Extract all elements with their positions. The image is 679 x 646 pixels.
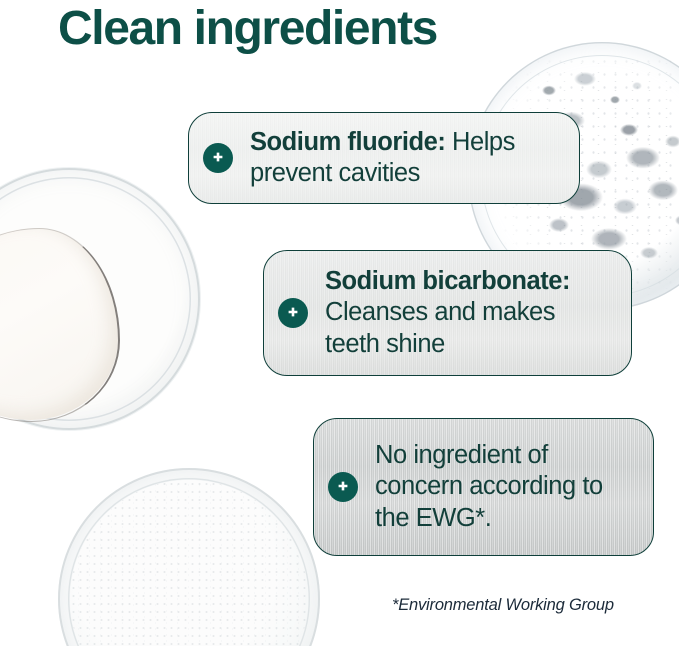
plus-icon [203, 143, 233, 173]
ingredient-card-sodium-bicarbonate: Sodium bicarbonate: Cleanses and makes t… [263, 250, 632, 376]
ingredient-card-no-concern: No ingredient of concern according to th… [313, 418, 654, 556]
ingredient-card-text: Sodium fluoride: Helps prevent cavities [250, 127, 563, 190]
plus-icon [328, 472, 358, 502]
ingredient-card-sodium-fluoride: Sodium fluoride: Helps prevent cavities [188, 112, 580, 204]
plus-icon [278, 298, 308, 328]
ingredient-description: No ingredient of concern according to th… [375, 441, 603, 532]
clear-gel-blob [0, 228, 118, 420]
ingredient-name: Sodium fluoride: [250, 128, 445, 156]
ingredient-card-text: Sodium bicarbonate: Cleanses and makes t… [325, 266, 615, 360]
footnote: *Environmental Working Group [392, 596, 614, 615]
clear-gel-edge [0, 228, 120, 422]
ingredient-card-text: No ingredient of concern according to th… [375, 440, 637, 534]
fine-white-powder-fill [70, 480, 308, 646]
page-title: Clean ingredients [58, 2, 437, 56]
petri-dish-left [0, 168, 200, 430]
ingredient-name: Sodium bicarbonate: [325, 267, 570, 295]
petri-dish-bottom [58, 468, 320, 646]
clean-ingredients-infographic: Clean ingredients Sodium fluoride: Helps… [0, 0, 679, 646]
ingredient-description: Cleanses and makes teeth shine [325, 298, 555, 357]
